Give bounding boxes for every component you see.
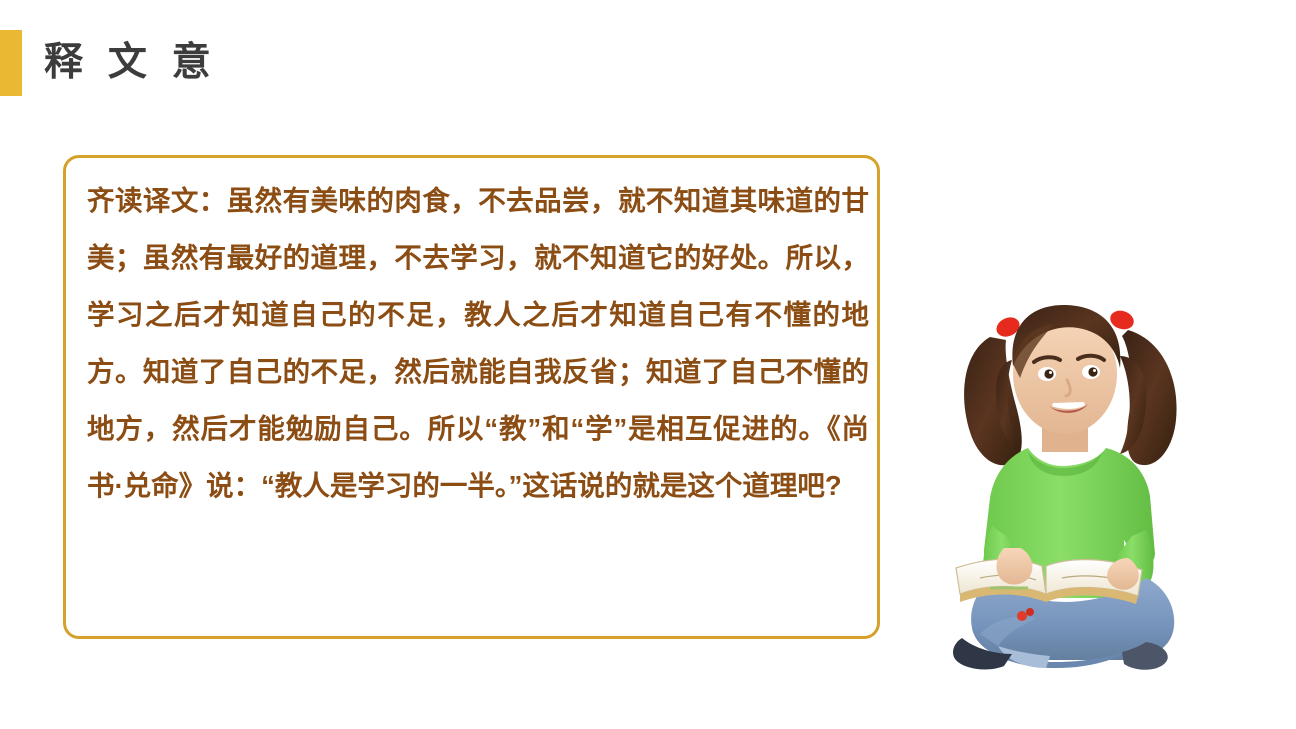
page-title: 释 文 意 [44,28,218,98]
girl-reading-book-graphic [950,282,1260,682]
translation-text-panel: 齐读译文：虽然有美味的肉食，不去品尝，就不知道其味道的甘美；虽然有最好的道理，不… [63,155,880,639]
slide-root: 释 文 意 齐读译文：虽然有美味的肉食，不去品尝，就不知道其味道的甘美；虽然有最… [0,0,1296,729]
slide-header: 释 文 意 [0,28,500,98]
translation-paragraph: 齐读译文：虽然有美味的肉食，不去品尝，就不知道其味道的甘美；虽然有最好的道理，不… [87,172,869,514]
girl-reading-book-illustration [950,282,1260,682]
accent-bar [0,30,22,96]
translation-body: 齐读译文：虽然有美味的肉食，不去品尝，就不知道其味道的甘美；虽然有最好的道理，不… [87,172,869,514]
